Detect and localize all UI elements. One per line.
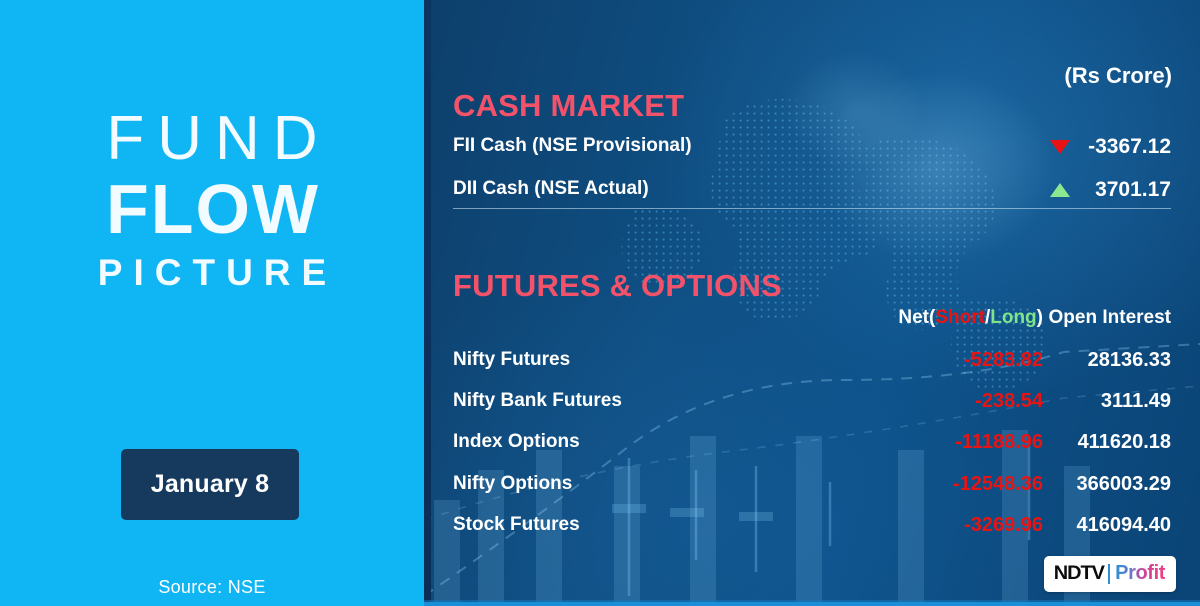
table-row: Nifty Futures -5283.82 28136.33 <box>453 349 1171 375</box>
futures-options-column-headers: Net(Short/Long) Open Interest <box>453 307 1171 333</box>
brand-line-picture: PICTURE <box>0 254 424 291</box>
table-row: Index Options -11188.96 411620.18 <box>453 431 1171 457</box>
column-header-open-interest: Open Interest <box>981 307 1171 329</box>
row-open-interest-value: 416094.40 <box>981 514 1171 537</box>
fund-flow-picture-logo: FUND FLOW PICTURE <box>0 108 424 291</box>
brand-line-fund: FUND <box>0 108 424 170</box>
bottom-accent-line <box>424 602 1200 606</box>
cash-row-dii: DII Cash (NSE Actual) 3701.17 <box>453 178 1171 206</box>
row-label: Stock Futures <box>453 514 580 536</box>
table-row: Nifty Bank Futures -238.54 3111.49 <box>453 390 1171 416</box>
row-open-interest-value: 366003.29 <box>981 473 1171 496</box>
row-label: Nifty Options <box>453 473 572 495</box>
source-label: Source: NSE <box>0 577 424 598</box>
unit-note: (Rs Crore) <box>1064 63 1172 89</box>
logo-profit-text: Profit <box>1115 562 1165 585</box>
cash-row-label: FII Cash (NSE Provisional) <box>453 135 692 157</box>
row-open-interest-value: 3111.49 <box>981 390 1171 413</box>
cash-row-value: -3367.12 <box>991 135 1171 159</box>
net-short-label: Short <box>935 307 985 328</box>
logo-divider-icon <box>1108 564 1110 584</box>
date-badge: January 8 <box>121 449 299 520</box>
cash-row-value: 3701.17 <box>991 178 1171 202</box>
data-panel: (Rs Crore) CASH MARKET FII Cash (NSE Pro… <box>424 0 1200 606</box>
table-row: Stock Futures -3269.96 416094.40 <box>453 514 1171 540</box>
cash-market-heading: CASH MARKET <box>453 88 684 124</box>
brand-panel: FUND FLOW PICTURE January 8 Source: NSE <box>0 0 424 606</box>
row-label: Nifty Futures <box>453 349 570 371</box>
cash-row-fii: FII Cash (NSE Provisional) -3367.12 <box>453 135 1171 163</box>
futures-options-heading: FUTURES & OPTIONS <box>453 268 782 304</box>
row-label: Nifty Bank Futures <box>453 390 622 412</box>
row-open-interest-value: 411620.18 <box>981 431 1171 454</box>
ndtv-profit-logo: NDTV Profit <box>1044 556 1176 592</box>
table-row: Nifty Options -12548.36 366003.29 <box>453 473 1171 499</box>
brand-line-flow: FLOW <box>0 174 424 244</box>
section-divider <box>453 208 1171 209</box>
logo-ndtv-text: NDTV <box>1054 563 1104 585</box>
infographic-canvas: FUND FLOW PICTURE January 8 Source: NSE <box>0 0 1200 606</box>
net-prefix: Net( <box>898 307 935 328</box>
panel-edge-strip <box>424 0 431 606</box>
row-open-interest-value: 28136.33 <box>981 349 1171 372</box>
cash-row-label: DII Cash (NSE Actual) <box>453 178 649 200</box>
row-label: Index Options <box>453 431 580 453</box>
